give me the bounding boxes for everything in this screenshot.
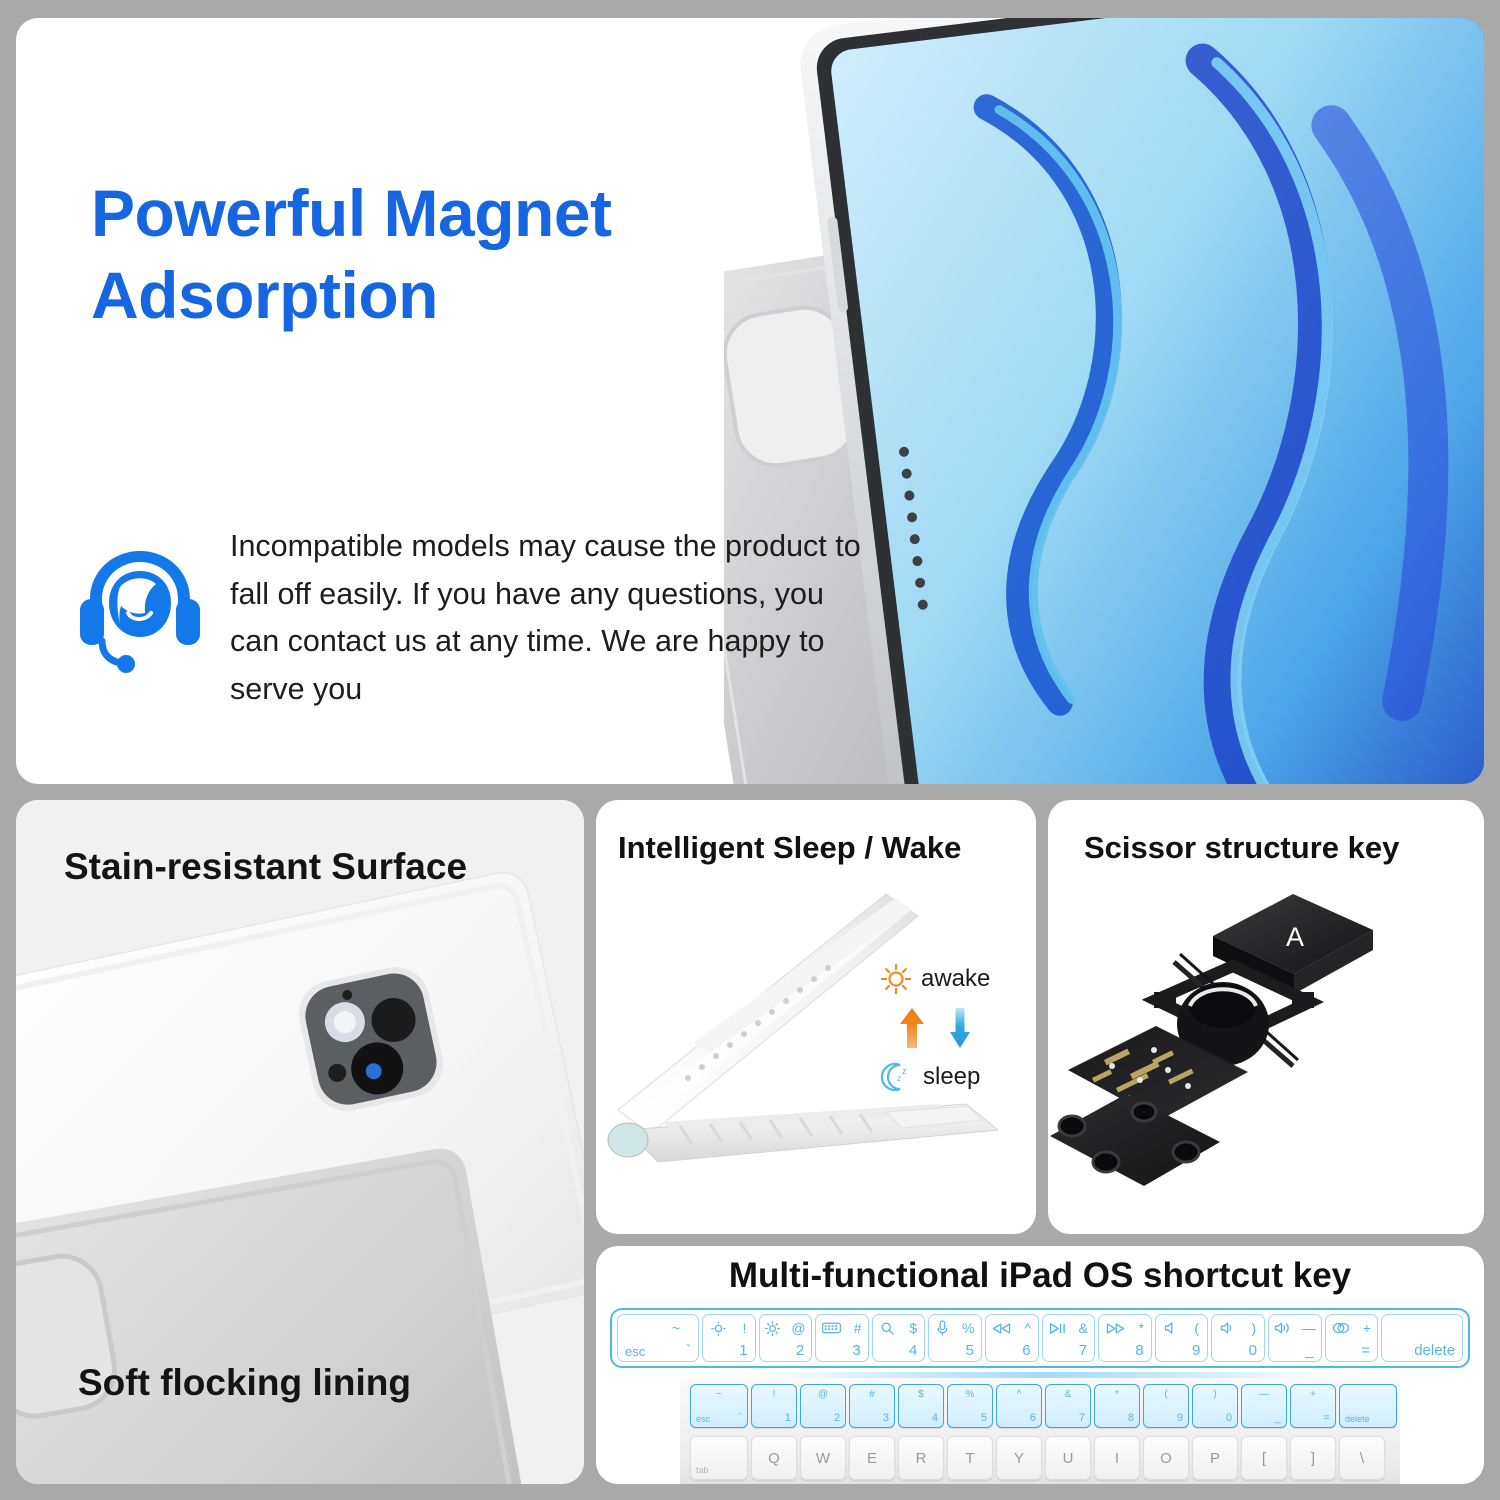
key-6-symbol: ^ (1024, 1321, 1031, 1335)
key-4-sub: 4 (909, 1342, 917, 1359)
svg-text:A: A (1286, 922, 1304, 952)
panel-powerful-magnet: Powerful Magnet Adsorption Incompatible … (16, 18, 1484, 784)
scissor-switch-exploded-view: A (1048, 874, 1484, 1224)
panel-intelligent-sleep-wake: Intelligent Sleep / Wake (596, 800, 1036, 1234)
key-delete-label: delete (1414, 1342, 1455, 1359)
legend-sleep-label: sleep (923, 1063, 980, 1091)
photo-key-1[interactable]: !1 (751, 1384, 797, 1428)
key-search[interactable]: $ 4 (872, 1314, 926, 1362)
key-esc[interactable]: ~ esc ` (617, 1314, 699, 1362)
legend-awake-label: awake (921, 965, 990, 993)
key-esc-symbol: ~ (672, 1321, 680, 1335)
photo-key-9[interactable]: (9 (1143, 1384, 1189, 1428)
key-7-symbol: & (1078, 1321, 1087, 1335)
sleep-panel-title: Intelligent Sleep / Wake (618, 830, 961, 866)
search-icon (880, 1321, 895, 1336)
key-3-symbol: # (854, 1321, 862, 1335)
fast-forward-icon (1106, 1322, 1125, 1335)
photo-key-_[interactable]: —_ (1241, 1384, 1287, 1428)
legend-awake: awake (880, 958, 1020, 1000)
photo-key-3[interactable]: #3 (849, 1384, 895, 1428)
play-pause-icon (1049, 1322, 1066, 1335)
key-5-sub: 5 (966, 1342, 974, 1359)
photo-key-q[interactable]: Q (751, 1436, 797, 1480)
key-minus-symbol: — (1302, 1321, 1316, 1335)
key-fast-forward[interactable]: * 8 (1098, 1314, 1152, 1362)
key-2-symbol: @ (791, 1321, 805, 1335)
sleep-wake-arrows (880, 1000, 1020, 1056)
key-9-sub: 9 (1192, 1342, 1200, 1359)
sun-icon (880, 963, 912, 995)
key-esc-sub: ` (686, 1342, 691, 1359)
key-1-symbol: ! (742, 1321, 746, 1335)
key-8-symbol: * (1138, 1321, 1143, 1335)
key-play-pause[interactable]: & 7 (1042, 1314, 1096, 1362)
photo-key-o[interactable]: O (1143, 1436, 1189, 1480)
arrow-down-icon (948, 1006, 972, 1050)
key-9-symbol: ( (1194, 1321, 1199, 1335)
key-brightness-up[interactable]: @ 2 (759, 1314, 813, 1362)
brightness-up-icon (765, 1321, 780, 1336)
key-brightness-down[interactable]: ! 1 (702, 1314, 756, 1362)
photo-key-delete[interactable]: delete (1339, 1384, 1397, 1428)
panel-stain-resistant: Stain-resistant Surface Soft flocking li… (16, 800, 584, 1484)
photo-key-2[interactable]: @2 (800, 1384, 846, 1428)
support-note: Incompatible models may cause the produc… (76, 523, 870, 713)
key-8-sub: 8 (1135, 1342, 1143, 1359)
photo-key-8[interactable]: *8 (1094, 1384, 1140, 1428)
photo-key-r[interactable]: R (898, 1436, 944, 1480)
panel-scissor-structure: Scissor structure key A (1048, 800, 1484, 1234)
stain-panel-subtitle: Soft flocking lining (78, 1362, 411, 1404)
page-title: Powerful Magnet Adsorption (91, 173, 612, 337)
svg-text:z: z (897, 1074, 901, 1083)
photo-key-\[interactable]: \ (1339, 1436, 1385, 1480)
keyboard-function-row: ~esc`!1@2#3$4%5^6&7*8(9)0—_+=delete (690, 1384, 1397, 1428)
key-7-sub: 7 (1079, 1342, 1087, 1359)
keyboard-backlight-icon (822, 1321, 841, 1335)
key-keyboard-backlight[interactable]: # 3 (815, 1314, 869, 1362)
key-minus-sub: _ (1305, 1342, 1313, 1359)
key-4-symbol: $ (909, 1321, 917, 1335)
key-6-sub: 6 (1022, 1342, 1030, 1359)
photo-key-][interactable]: ] (1290, 1436, 1336, 1480)
key-equal-sub: = (1361, 1342, 1370, 1359)
stain-panel-title: Stain-resistant Surface (64, 846, 467, 888)
legend-sleep: z z sleep (880, 1056, 1020, 1098)
function-key-callout: ~ esc ` ! 1 (610, 1308, 1470, 1368)
shortcut-panel-title: Multi-functional iPad OS shortcut key (596, 1256, 1484, 1296)
key-1-sub: 1 (739, 1342, 747, 1359)
photo-key-w[interactable]: W (800, 1436, 846, 1480)
volume-up-icon (1274, 1321, 1293, 1335)
photo-key-p[interactable]: P (1192, 1436, 1238, 1480)
infographic-canvas: Powerful Magnet Adsorption Incompatible … (0, 0, 1500, 1500)
key-rewind[interactable]: ^ 6 (985, 1314, 1039, 1362)
key-mute[interactable]: ( 9 (1155, 1314, 1209, 1362)
support-note-text: Incompatible models may cause the produc… (230, 523, 870, 713)
scissor-panel-title: Scissor structure key (1084, 830, 1399, 866)
arrow-up-icon (898, 1006, 926, 1050)
photo-key-7[interactable]: &7 (1045, 1384, 1091, 1428)
photo-key-[[interactable]: [ (1241, 1436, 1287, 1480)
mute-icon (1164, 1321, 1178, 1335)
key-volume-up[interactable]: — _ (1268, 1314, 1322, 1362)
photo-key-u[interactable]: U (1045, 1436, 1091, 1480)
key-3-sub: 3 (852, 1342, 860, 1359)
photo-key-i[interactable]: I (1094, 1436, 1140, 1480)
volume-down-icon (1220, 1321, 1236, 1335)
key-equal-symbol: + (1363, 1321, 1371, 1335)
panel-shortcut-keys: Multi-functional iPad OS shortcut key ~ … (596, 1246, 1484, 1484)
photo-key-=[interactable]: += (1290, 1384, 1336, 1428)
photo-key-tab[interactable]: tab (690, 1436, 748, 1480)
key-5-symbol: % (962, 1321, 974, 1335)
photo-key-y[interactable]: Y (996, 1436, 1042, 1480)
key-lock-screen[interactable]: + = (1325, 1314, 1379, 1362)
photo-key-4[interactable]: $4 (898, 1384, 944, 1428)
photo-key-5[interactable]: %5 (947, 1384, 993, 1428)
keyboard-photo: ~esc`!1@2#3$4%5^6&7*8(9)0—_+=delete tabQ… (596, 1372, 1484, 1484)
key-esc-label: esc (625, 1344, 645, 1359)
photo-key-e[interactable]: E (849, 1436, 895, 1480)
moon-zzz-icon: z z (880, 1061, 914, 1093)
keyboard-body: ~esc`!1@2#3$4%5^6&7*8(9)0—_+=delete tabQ… (680, 1378, 1400, 1484)
rewind-icon (992, 1322, 1011, 1335)
key-0-symbol: ) (1251, 1321, 1256, 1335)
key-2-sub: 2 (796, 1342, 804, 1359)
photo-key-6[interactable]: ^6 (996, 1384, 1042, 1428)
key-volume-down[interactable]: ) 0 (1211, 1314, 1265, 1362)
svg-text:z: z (902, 1066, 907, 1076)
key-delete[interactable]: delete (1381, 1314, 1463, 1362)
keyboard-qwerty-row: tabQWERTYUIOP[]\ (690, 1436, 1385, 1480)
lock-screen-icon (1332, 1321, 1351, 1335)
customer-service-headset-icon (76, 541, 204, 673)
key-microphone[interactable]: % 5 (928, 1314, 982, 1362)
photo-key-t[interactable]: T (947, 1436, 993, 1480)
photo-key-0[interactable]: )0 (1192, 1384, 1238, 1428)
brightness-down-icon (711, 1321, 726, 1336)
sleep-wake-legend: awake z (880, 958, 1020, 1098)
microphone-icon (936, 1320, 949, 1336)
key-0-sub: 0 (1249, 1342, 1257, 1359)
photo-key-esc[interactable]: ~esc` (690, 1384, 748, 1428)
